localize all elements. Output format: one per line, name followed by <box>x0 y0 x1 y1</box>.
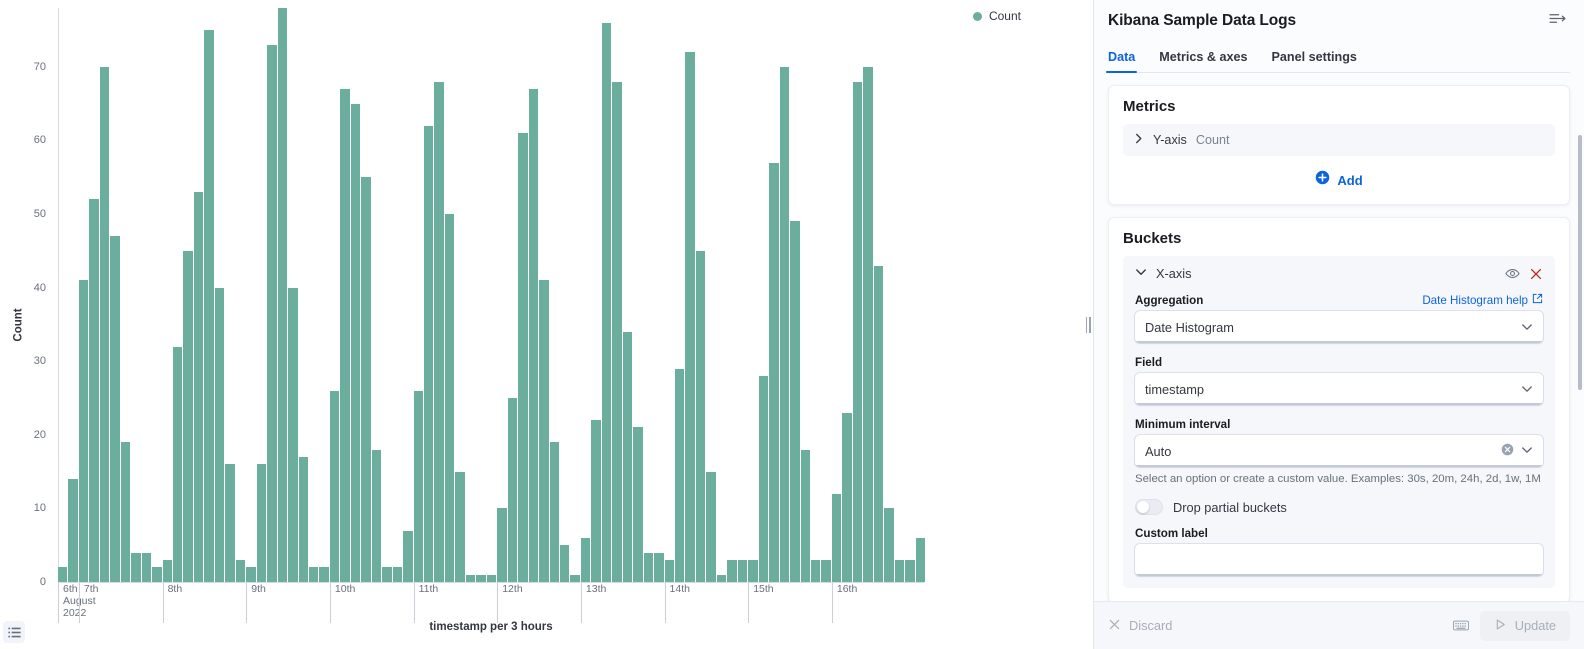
help-link-label: Date Histogram help <box>1422 294 1528 307</box>
bar[interactable] <box>299 457 309 582</box>
bar[interactable] <box>497 508 507 582</box>
discard-label: Discard <box>1129 618 1172 633</box>
date-histogram-help-link[interactable]: Date Histogram help <box>1422 293 1543 307</box>
field-label: Field <box>1135 356 1162 369</box>
custom-label-input[interactable] <box>1135 544 1543 576</box>
minimum-interval-hint: Select an option or create a custom valu… <box>1135 472 1543 487</box>
metrics-card: Metrics Y-axis Count <box>1108 85 1570 205</box>
bar[interactable] <box>602 23 612 582</box>
chevron-down-icon[interactable] <box>1135 266 1147 281</box>
bar[interactable] <box>539 280 549 582</box>
panel-resize-handle[interactable] <box>1083 0 1093 649</box>
metrics-card-title: Metrics <box>1123 98 1555 115</box>
bar[interactable] <box>68 479 78 582</box>
metric-row-y-axis[interactable]: Y-axis Count <box>1123 124 1555 156</box>
bucket-row-label: X-axis <box>1156 266 1192 281</box>
discard-button[interactable]: Discard <box>1108 618 1172 634</box>
bar[interactable] <box>204 30 214 582</box>
bar[interactable] <box>487 575 497 582</box>
aggregation-label-row: Aggregation Date Histogram help <box>1135 293 1543 307</box>
bar[interactable] <box>821 560 831 582</box>
buckets-card-title: Buckets <box>1123 230 1555 247</box>
bar[interactable] <box>508 398 518 582</box>
metric-row-prefix: Y-axis <box>1153 133 1187 147</box>
chevron-down-icon <box>1521 321 1533 333</box>
x-axis-tick-label: 9th <box>246 583 266 623</box>
bar[interactable] <box>236 560 246 582</box>
field-select[interactable]: timestamp <box>1135 373 1543 405</box>
add-metric-label: Add <box>1337 173 1362 188</box>
field-value: timestamp <box>1145 382 1521 397</box>
y-axis-tick-label: 20 <box>34 429 46 441</box>
bar[interactable] <box>372 450 382 582</box>
x-axis-tick-label: 13th <box>581 583 606 623</box>
metric-row-value: Count <box>1196 133 1230 147</box>
bar[interactable] <box>476 575 486 582</box>
bar[interactable] <box>403 531 413 583</box>
bar[interactable] <box>434 82 444 582</box>
bar[interactable] <box>58 567 68 582</box>
chevron-down-icon <box>1521 383 1533 395</box>
custom-label-label: Custom label <box>1135 527 1208 540</box>
bar[interactable] <box>257 464 267 582</box>
bar[interactable] <box>382 567 392 582</box>
aggregation-label: Aggregation <box>1135 294 1203 307</box>
close-icon <box>1108 618 1121 634</box>
bar[interactable] <box>832 494 842 582</box>
bar[interactable] <box>110 236 120 582</box>
field-label-row: Field <box>1135 356 1543 369</box>
page-title: Kibana Sample Data Logs <box>1108 12 1296 30</box>
x-axis-tick-label: 10th <box>330 583 355 623</box>
app-root: Count Count 010203040506070 6th August 2… <box>0 0 1584 649</box>
bar[interactable] <box>863 67 873 582</box>
bar[interactable] <box>874 266 884 582</box>
bar[interactable] <box>319 567 329 582</box>
clear-circle-icon[interactable] <box>1501 443 1514 459</box>
bar[interactable] <box>612 82 622 582</box>
keyboard-icon[interactable] <box>1450 616 1472 635</box>
bar[interactable] <box>361 177 371 582</box>
bar[interactable] <box>142 553 152 582</box>
tab-panel-settings[interactable]: Panel settings <box>1270 46 1359 72</box>
chevron-right-icon <box>1133 133 1144 147</box>
bar[interactable] <box>811 560 821 582</box>
bucket-x-axis: X-axis <box>1123 256 1555 588</box>
table-list-icon[interactable] <box>3 621 25 643</box>
bar[interactable] <box>842 413 852 582</box>
bar[interactable] <box>581 538 591 582</box>
bar[interactable] <box>173 347 183 582</box>
bar[interactable] <box>351 104 361 582</box>
editor-tabs: Data Metrics & axes Panel settings <box>1106 46 1570 73</box>
bar[interactable] <box>591 420 601 582</box>
x-axis-tick-label: 11th <box>414 583 439 623</box>
bar[interactable] <box>267 45 277 582</box>
bar[interactable] <box>696 251 706 582</box>
x-axis-title: timestamp per 3 hours <box>58 621 924 633</box>
x-axis-tick-label: 14th <box>665 583 690 623</box>
chart-pane: Count Count 010203040506070 6th August 2… <box>0 0 1093 649</box>
bar[interactable] <box>414 391 424 582</box>
bar[interactable] <box>194 192 204 582</box>
collapse-panel-icon[interactable] <box>1545 8 1570 34</box>
play-icon <box>1494 618 1507 634</box>
bar[interactable] <box>801 450 811 582</box>
drop-partial-buckets-toggle[interactable]: Drop partial buckets <box>1135 499 1543 515</box>
legend-color-dot <box>973 12 982 21</box>
bar[interactable] <box>163 560 173 582</box>
bar[interactable] <box>288 288 298 582</box>
bar[interactable] <box>455 472 465 582</box>
bar[interactable] <box>445 214 455 582</box>
x-axis-tick-label: 16th <box>832 583 857 623</box>
bar[interactable] <box>393 567 403 582</box>
y-axis-ticks: 010203040506070 <box>0 0 52 649</box>
bar[interactable] <box>466 575 476 582</box>
bar[interactable] <box>654 553 664 582</box>
bar[interactable] <box>131 553 141 582</box>
bar[interactable] <box>225 464 235 582</box>
x-axis-tick-label: 8th <box>163 583 183 623</box>
editor-scroll-area[interactable]: Metrics Y-axis Count <box>1094 73 1584 601</box>
bar[interactable] <box>644 553 654 582</box>
bar[interactable] <box>685 52 695 582</box>
y-axis-tick-label: 10 <box>34 502 46 514</box>
panel-scrollbar[interactable] <box>1578 135 1582 390</box>
bar[interactable] <box>309 567 319 582</box>
y-axis-tick-label: 0 <box>40 576 46 588</box>
bar[interactable] <box>905 560 915 582</box>
bar[interactable] <box>79 280 89 582</box>
y-axis-tick-label: 30 <box>34 355 46 367</box>
aggregation-value: Date Histogram <box>1145 320 1521 335</box>
bar[interactable] <box>895 560 905 582</box>
bar[interactable] <box>183 251 193 582</box>
bar[interactable] <box>89 199 99 582</box>
bar[interactable] <box>340 89 350 582</box>
y-axis-tick-label: 70 <box>34 61 46 73</box>
bar[interactable] <box>246 567 256 582</box>
bar[interactable] <box>570 575 580 582</box>
bar[interactable] <box>278 8 288 582</box>
add-metric-button[interactable]: Add <box>1123 170 1555 190</box>
minimum-interval-label: Minimum interval <box>1135 418 1230 431</box>
bar[interactable] <box>780 67 790 582</box>
x-axis-tick-label: 15th <box>748 583 773 623</box>
bar[interactable] <box>769 163 779 582</box>
bar[interactable] <box>100 67 110 582</box>
y-axis-tick-label: 60 <box>34 134 46 146</box>
close-icon[interactable] <box>1529 267 1543 281</box>
y-axis-tick-label: 50 <box>34 208 46 220</box>
external-link-icon <box>1532 293 1543 307</box>
y-axis-tick-label: 40 <box>34 282 46 294</box>
editor-footer: Discard <box>1094 601 1584 649</box>
update-label: Update <box>1515 618 1556 633</box>
custom-label-row: Custom label <box>1135 527 1543 540</box>
bar[interactable] <box>665 560 675 582</box>
plus-circle-icon <box>1315 170 1330 190</box>
x-axis-tick-label: 7th <box>79 583 99 623</box>
update-button[interactable]: Update <box>1480 611 1570 641</box>
buckets-card: Buckets X-axis <box>1108 217 1570 601</box>
drop-partial-buckets-label: Drop partial buckets <box>1173 500 1287 515</box>
chevron-down-icon <box>1521 444 1533 459</box>
bar[interactable] <box>717 575 727 582</box>
bar[interactable] <box>424 126 434 582</box>
aggregation-select[interactable]: Date Histogram <box>1135 311 1543 343</box>
bar[interactable] <box>916 538 926 582</box>
bar[interactable] <box>727 560 737 582</box>
interval-label-row: Minimum interval <box>1135 418 1543 431</box>
minimum-interval-value: Auto <box>1145 444 1501 459</box>
x-axis-tick-label: 12th <box>497 583 522 623</box>
bar[interactable] <box>121 442 131 582</box>
bar[interactable] <box>853 82 863 582</box>
bar-series <box>58 8 926 582</box>
minimum-interval-select[interactable]: Auto <box>1135 435 1543 467</box>
bar[interactable] <box>759 376 769 582</box>
bar[interactable] <box>748 560 758 582</box>
visualization-editor-panel: Kibana Sample Data Logs Data Metrics & a… <box>1093 0 1584 649</box>
bar[interactable] <box>152 567 162 582</box>
bar[interactable] <box>706 472 716 582</box>
bar[interactable] <box>884 508 894 582</box>
bar[interactable] <box>633 427 643 582</box>
bar[interactable] <box>790 221 800 582</box>
eye-icon[interactable] <box>1505 266 1520 281</box>
tab-metrics-axes[interactable]: Metrics & axes <box>1157 46 1249 72</box>
bucket-header[interactable]: X-axis <box>1135 266 1543 281</box>
bar[interactable] <box>738 560 748 582</box>
bar[interactable] <box>215 288 225 582</box>
bar[interactable] <box>529 89 539 582</box>
toggle-switch[interactable] <box>1135 499 1163 515</box>
bar[interactable] <box>330 391 340 582</box>
bar[interactable] <box>550 442 560 582</box>
editor-header: Kibana Sample Data Logs Data Metrics & a… <box>1094 0 1584 73</box>
plot-area <box>58 8 926 582</box>
tab-data[interactable]: Data <box>1106 46 1137 72</box>
interval-adornments <box>1501 443 1533 459</box>
bar[interactable] <box>623 332 633 582</box>
legend-label: Count <box>989 9 1021 23</box>
bar[interactable] <box>518 133 528 582</box>
bar[interactable] <box>560 545 570 582</box>
chart-legend[interactable]: Count <box>973 9 1021 23</box>
bar[interactable] <box>675 369 685 582</box>
